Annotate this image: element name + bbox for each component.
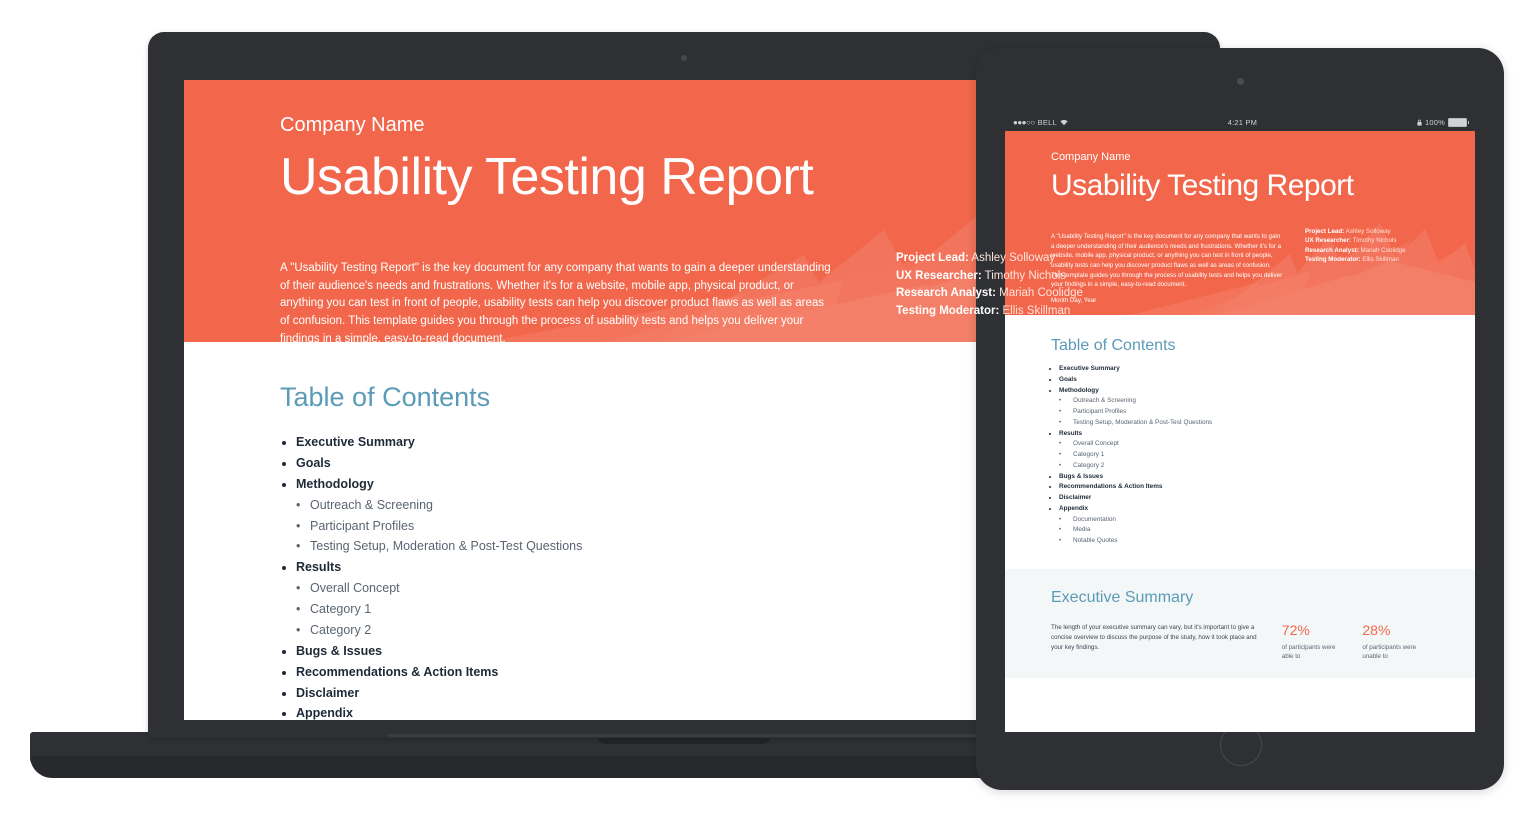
toc-item[interactable]: •Notable Quotes <box>1059 537 1429 544</box>
credit-row: Research Analyst: Mariah Coolidge <box>1305 246 1406 255</box>
bullet-icon: • <box>1059 419 1073 426</box>
battery-percent: 100% <box>1425 118 1445 127</box>
toc-item-label: Category 1 <box>1073 451 1104 458</box>
page-title: Usability Testing Report <box>280 149 1088 206</box>
bullet-icon: • <box>296 602 310 616</box>
credit-row: UX Researcher: Timothy Nichols <box>1305 236 1406 245</box>
toc-item[interactable]: Goals <box>296 456 1088 470</box>
toc-item-label: Methodology <box>296 477 374 491</box>
toc-item-label: Results <box>1059 430 1082 437</box>
status-time: 4:21 PM <box>1068 118 1417 127</box>
tablet-body: ●●●○○ BELL 4:21 PM 100% <box>976 48 1504 790</box>
toc-item[interactable]: Executive Summary <box>1059 365 1429 372</box>
toc-list: Executive SummaryGoalsMethodology•Outrea… <box>1051 365 1429 544</box>
toc-item[interactable]: Bugs & Issues <box>296 644 1088 658</box>
bullet-icon: • <box>296 581 310 595</box>
toc-item[interactable]: Recommendations & Action Items <box>296 665 1088 679</box>
company-name: Company Name <box>280 114 1088 137</box>
toc-item[interactable]: Appendix <box>1059 505 1429 512</box>
toc-item-label: Bugs & Issues <box>296 644 382 658</box>
toc-item[interactable]: •Outreach & Screening <box>1059 397 1429 404</box>
toc-item[interactable]: Appendix <box>296 706 1088 720</box>
bullet-icon: • <box>1059 440 1073 447</box>
toc-item[interactable]: •Documentation <box>1059 516 1429 523</box>
bullet-icon: • <box>1059 537 1073 544</box>
toc-item[interactable]: •Category 1 <box>296 602 1088 616</box>
toc-item-label: Outreach & Screening <box>1073 397 1136 404</box>
bullet-icon: • <box>1059 408 1073 415</box>
credit-role: UX Researcher: <box>896 270 982 282</box>
credit-name: Mariah Coolidge <box>1361 247 1406 254</box>
document-date: Month Day, Year <box>1051 296 1283 306</box>
credits-list: Project Lead: Ashley Solloway UX Researc… <box>1305 226 1406 264</box>
toc-item[interactable]: Results <box>1059 430 1429 437</box>
toc-item[interactable]: •Outreach & Screening <box>296 498 1088 512</box>
credit-role: Research Analyst: <box>1305 247 1359 254</box>
stat-caption: of participants were able to <box>1282 644 1349 662</box>
toc-item-label: Media <box>1073 526 1090 533</box>
toc-item-label: Overall Concept <box>310 581 400 595</box>
page-title: Usability Testing Report <box>1051 169 1429 202</box>
credit-name: Ashley Solloway <box>971 252 1055 264</box>
camera-icon <box>681 55 687 61</box>
toc-item-label: Testing Setup, Moderation & Post-Test Qu… <box>1073 419 1212 426</box>
toc-item-label: Category 2 <box>310 623 371 637</box>
toc-item[interactable]: Disclaimer <box>1059 494 1429 501</box>
toc-item[interactable]: Bugs & Issues <box>1059 473 1429 480</box>
toc-item[interactable]: Results <box>296 560 1088 574</box>
toc-item-label: Executive Summary <box>1059 365 1120 372</box>
toc-item-label: Appendix <box>1059 505 1088 512</box>
toc-item[interactable]: •Media <box>1059 526 1429 533</box>
toc-item[interactable]: Recommendations & Action Items <box>1059 483 1429 490</box>
toc-item-label: Notable Quotes <box>1073 537 1117 544</box>
bullet-icon: • <box>1059 397 1073 404</box>
stat-value: 28% <box>1362 623 1429 637</box>
hero-intro-block: A "Usability Testing Report" is the key … <box>280 248 832 342</box>
toc-item-label: Documentation <box>1073 516 1116 523</box>
toc-list: Executive SummaryGoalsMethodology•Outrea… <box>280 435 1088 720</box>
bullet-icon: • <box>1059 451 1073 458</box>
toc-item-label: Recommendations & Action Items <box>296 665 498 679</box>
toc-item[interactable]: •Overall Concept <box>1059 440 1429 447</box>
bullet-icon: • <box>296 539 310 553</box>
toc-item-label: Bugs & Issues <box>1059 473 1103 480</box>
toc-item[interactable]: •Overall Concept <box>296 581 1088 595</box>
toc-item-label: Appendix <box>296 706 353 720</box>
toc-item[interactable]: •Testing Setup, Moderation & Post-Test Q… <box>296 539 1088 553</box>
company-name: Company Name <box>1051 151 1429 163</box>
toc-item[interactable]: Methodology <box>1059 387 1429 394</box>
executive-summary-section: Executive Summary The length of your exe… <box>1005 569 1475 678</box>
executive-summary-text: The length of your executive summary can… <box>1051 623 1260 662</box>
bullet-icon: • <box>1059 516 1073 523</box>
toc-heading: Table of Contents <box>1051 337 1429 355</box>
document-hero: Company Name Usability Testing Report A … <box>1005 131 1475 315</box>
toc-item-label: Overall Concept <box>1073 440 1119 447</box>
toc-item[interactable]: •Participant Profiles <box>1059 408 1429 415</box>
toc-item-label: Executive Summary <box>296 435 415 449</box>
document-tablet: Company Name Usability Testing Report A … <box>1005 131 1475 678</box>
credit-name: Timothy Nichols <box>1353 237 1397 244</box>
tablet-device: ●●●○○ BELL 4:21 PM 100% <box>976 48 1504 790</box>
lock-icon <box>1417 119 1422 126</box>
credit-row: Project Lead: Ashley Solloway <box>1305 227 1406 236</box>
tablet-screen: ●●●○○ BELL 4:21 PM 100% <box>1005 114 1475 732</box>
bullet-icon: • <box>1059 462 1073 469</box>
toc-item-label: Category 2 <box>1073 462 1104 469</box>
stat-block: 72% of participants were able to <box>1282 623 1349 662</box>
executive-summary-heading: Executive Summary <box>1051 589 1429 607</box>
stat-caption: of participants were unable to <box>1362 644 1429 662</box>
stat-value: 72% <box>1282 623 1349 637</box>
stat-block: 28% of participants were unable to <box>1362 623 1429 662</box>
toc-item[interactable]: •Participant Profiles <box>296 519 1088 533</box>
toc-item-label: Recommendations & Action Items <box>1059 483 1162 490</box>
hero-intro-block: A "Usability Testing Report" is the key … <box>1051 226 1283 306</box>
toc-item[interactable]: •Testing Setup, Moderation & Post-Test Q… <box>1059 419 1429 426</box>
toc-item[interactable]: Methodology <box>296 477 1088 491</box>
bullet-icon: • <box>296 623 310 637</box>
battery-full-icon <box>1448 118 1467 127</box>
toc-heading: Table of Contents <box>280 382 1088 413</box>
toc-item-label: Participant Profiles <box>1073 408 1126 415</box>
toc-item-label: Outreach & Screening <box>310 498 433 512</box>
toc-item-label: Methodology <box>1059 387 1099 394</box>
intro-paragraph: A "Usability Testing Report" is the key … <box>1051 232 1283 290</box>
device-mockup-scene: Company Name Usability Testing Report A … <box>0 0 1536 820</box>
credit-role: Project Lead: <box>896 252 969 264</box>
toc-item[interactable]: Disclaimer <box>296 686 1088 700</box>
credit-name: Ellis Skillman <box>1362 256 1398 263</box>
toc-item-label: Results <box>296 560 341 574</box>
toc-item[interactable]: •Category 2 <box>1059 462 1429 469</box>
toc-item-label: Goals <box>296 456 331 470</box>
bullet-icon: • <box>296 519 310 533</box>
credit-role: Testing Moderator: <box>1305 256 1361 263</box>
credit-role: Testing Moderator: <box>896 305 999 317</box>
credit-role: Project Lead: <box>1305 228 1344 235</box>
camera-icon <box>1237 78 1244 85</box>
toc-item[interactable]: Executive Summary <box>296 435 1088 449</box>
document-hero: Company Name Usability Testing Report A … <box>184 80 1184 342</box>
toc-item-label: Testing Setup, Moderation & Post-Test Qu… <box>310 539 582 553</box>
toc-item-label: Disclaimer <box>296 686 359 700</box>
toc-item[interactable]: •Category 2 <box>296 623 1088 637</box>
credit-role: UX Researcher: <box>1305 237 1351 244</box>
toc-item[interactable]: Goals <box>1059 376 1429 383</box>
toc-item-label: Category 1 <box>310 602 371 616</box>
toc-section: Table of Contents Executive SummaryGoals… <box>1005 315 1475 569</box>
credit-name: Ellis Skillman <box>1003 305 1071 317</box>
toc-item-label: Participant Profiles <box>310 519 414 533</box>
toc-item[interactable]: •Category 1 <box>1059 451 1429 458</box>
toc-item-label: Goals <box>1059 376 1077 383</box>
bullet-icon: • <box>296 498 310 512</box>
credit-name: Ashley Solloway <box>1346 228 1391 235</box>
credit-row: Testing Moderator: Ellis Skillman <box>1305 255 1406 264</box>
intro-paragraph: A "Usability Testing Report" is the key … <box>280 260 832 342</box>
bullet-icon: • <box>1059 526 1073 533</box>
toc-item-label: Disclaimer <box>1059 494 1091 501</box>
credit-role: Research Analyst: <box>896 287 996 299</box>
